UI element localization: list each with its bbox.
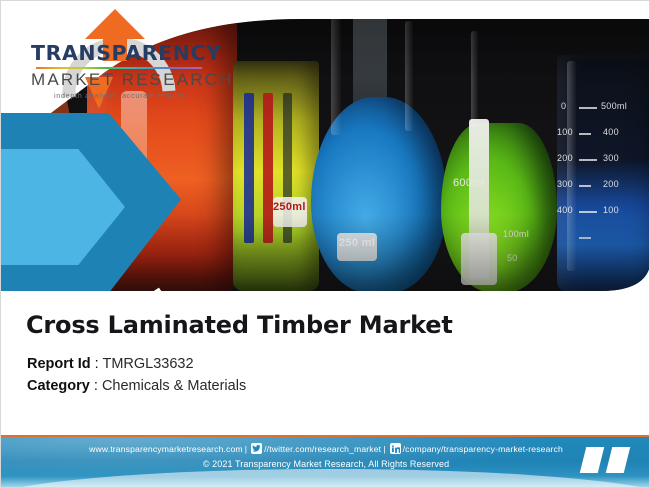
copyright-text: © 2021 Transparency Market Research, All… [1,459,650,469]
report-id-label: Report Id [27,356,91,372]
report-meta-list: Report Id : TMRGL33632 Category : Chemic… [27,353,246,397]
quote-mark-left [580,447,604,473]
logo-line-transparency: TRANSPARENCY [31,43,207,64]
linkedin-link[interactable]: /company/transparency-market-research [403,444,563,454]
logo-rainbow-rule [36,67,202,70]
report-id-separator: : [95,356,99,372]
company-logo[interactable]: TRANSPARENCY MARKET RESEARCH indepth ana… [23,5,213,117]
meta-row-category: Category : Chemicals & Materials [27,375,246,397]
twitter-link[interactable]: //twitter.com/research_market [264,444,381,454]
logo-line-market-research: MARKET RESEARCH [31,71,207,89]
report-cover-page: 0 100 200 300 400 500ml 400 300 200 100 … [0,0,650,488]
linkedin-icon[interactable] [390,443,401,454]
category-value: Chemicals & Materials [102,378,246,394]
footer-separator-1: | [245,444,247,454]
quote-mark-decoration [581,447,637,473]
category-separator: : [94,378,98,394]
website-link[interactable]: www.transparencymarketresearch.com [89,444,243,454]
category-label: Category [27,378,90,394]
page-footer: www.transparencymarketresearch.com| //tw… [1,435,650,487]
meta-row-report-id: Report Id : TMRGL33632 [27,353,246,375]
report-id-value: TMRGL33632 [102,356,193,372]
logo-wordmark: TRANSPARENCY MARKET RESEARCH indepth ana… [31,43,207,100]
report-details: Cross Laminated Timber Market Report Id … [1,297,650,433]
quote-mark-right [606,447,630,473]
twitter-icon[interactable] [251,443,262,454]
logo-tagline: indepth analysis, accurate results [31,91,207,100]
footer-links-row: www.transparencymarketresearch.com| //tw… [1,443,650,454]
page-title: Cross Laminated Timber Market [26,311,453,339]
footer-separator-2: | [383,444,385,454]
